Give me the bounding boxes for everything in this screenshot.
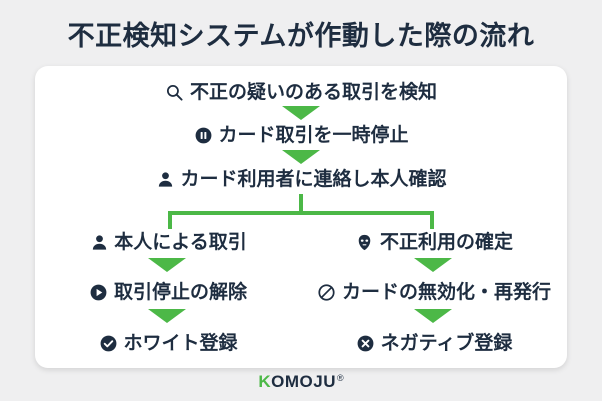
branch-connector-left-drop: [168, 211, 172, 229]
flow-step-detect: 不正の疑いのある取引を検知: [0, 82, 602, 102]
flow-step-contact-user: カード利用者に連絡し本人確認: [0, 169, 602, 189]
flow-step-label: カードの無効化・再発行: [342, 283, 551, 302]
logo-trademark: ®: [337, 374, 344, 383]
arrow-down-icon: [414, 258, 452, 272]
play-circle-icon: [89, 282, 109, 302]
arrow-down-icon: [148, 309, 186, 323]
arrow-down-icon: [148, 258, 186, 272]
logo-wordmark: OMOJU: [271, 373, 336, 390]
branch-connector-right-drop: [430, 211, 434, 229]
arrow-down-icon: [414, 309, 452, 323]
x-circle-icon: [356, 333, 376, 353]
flow-step-label: カード利用者に連絡し本人確認: [180, 170, 446, 189]
flow-branch-left-step-1: 本人による取引: [35, 232, 301, 252]
flow-branch-left-step-2: 取引停止の解除: [35, 282, 301, 302]
pause-circle-icon: [193, 125, 213, 145]
arrow-down-icon: [282, 106, 320, 120]
user-icon: [155, 169, 175, 189]
user-icon: [89, 232, 109, 252]
flow-step-label: 取引停止の解除: [114, 283, 247, 302]
slide-root: 不正検知システムが作動した際の流れ 不正の疑いのある取引を検知 カード取引を一時…: [0, 0, 602, 401]
flow-branch-right-step-2: カードの無効化・再発行: [301, 282, 567, 302]
search-icon: [165, 82, 185, 102]
arrow-down-icon: [282, 150, 320, 164]
branch-connector-bar: [168, 211, 434, 215]
flow-step-suspend: カード取引を一時停止: [0, 125, 602, 145]
page-title: 不正検知システムが作動した際の流れ: [0, 14, 602, 53]
flow-step-label: ネガティブ登録: [381, 334, 513, 353]
flow-step-label: ホワイト登録: [123, 334, 237, 353]
thief-icon: [355, 232, 375, 252]
flow-step-label: 不正の疑いのある取引を検知: [190, 83, 437, 102]
flow-step-label: カード取引を一時停止: [218, 126, 408, 145]
flow-branch-right-step-3: ネガティブ登録: [301, 333, 567, 353]
logo-initial: K: [258, 373, 271, 390]
ban-icon: [317, 282, 337, 302]
komoju-logo: K OMOJU ®: [0, 373, 602, 390]
check-circle-icon: [98, 333, 118, 353]
flow-branch-left-step-3: ホワイト登録: [35, 333, 301, 353]
flow-step-label: 不正利用の確定: [380, 233, 513, 252]
flow-step-label: 本人による取引: [114, 233, 246, 252]
flow-branch-right-step-1: 不正利用の確定: [301, 232, 567, 252]
